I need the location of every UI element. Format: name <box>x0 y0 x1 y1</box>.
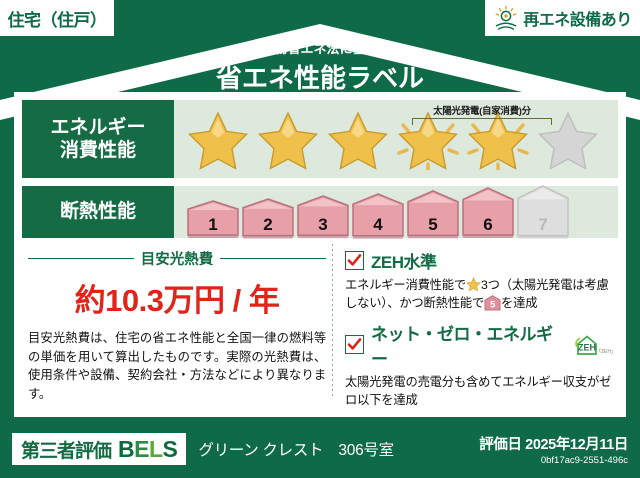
insulation-rating-area: 1234567 <box>174 186 618 238</box>
cost-rule-left <box>28 258 134 260</box>
utility-cost-section: 目安光熱費 約10.3万円 / 年 目安光熱費は、住宅の省エネ性能と全国一律の燃… <box>22 244 332 396</box>
badge-dwelling-type: 住宅（住戸） <box>0 0 114 36</box>
svg-text:「ZEH」: 「ZEH」 <box>596 349 616 355</box>
solar-sun-icon <box>493 5 519 31</box>
insulation-level-scale: 1234567 <box>174 185 570 240</box>
bels-logo: BELS <box>118 436 177 463</box>
net-zero-energy-heading: ネット・ゼロ・エネルギー ZEH 「ZEH」 <box>345 320 616 370</box>
insulation-level-number: 4 <box>351 215 405 235</box>
zeh-standard-heading: ZEH水準 <box>345 248 616 273</box>
insulation-level-6-on: 6 <box>461 187 515 239</box>
title-subtitle: 建築物省エネ法に基づく <box>0 38 640 57</box>
inline-insulation-badge: 5 <box>484 295 501 311</box>
bels-jp-label: 第三者評価 <box>21 436 111 463</box>
zeh-desc-part2: を達成 <box>501 296 537 310</box>
inline-star-icon <box>466 277 481 292</box>
cost-heading-text: 目安光熱費 <box>141 248 214 269</box>
insulation-level-number: 2 <box>241 215 295 235</box>
insulation-level-number: 7 <box>516 215 570 235</box>
star-2-filled <box>254 108 322 170</box>
zeh-section: ZEH水準 エネルギー消費性能で 3つ（太陽光発電は考慮しない）、かつ断熱性能で… <box>333 244 618 396</box>
energy-label-line1: エネルギー <box>50 116 145 139</box>
solar-bracket-line <box>412 118 552 125</box>
cost-rule-right <box>220 258 326 260</box>
star-1-filled <box>184 108 252 170</box>
property-name: グリーン クレスト 306号室 <box>198 438 393 460</box>
evaluation-info: 評価日 2025年12月11日 0bf17ac9-2551-496c <box>479 433 628 466</box>
insulation-performance-label: 断熱性能 <box>22 186 174 238</box>
insulation-level-1-on: 1 <box>186 200 240 239</box>
insulation-level-2-on: 2 <box>241 198 295 240</box>
zeh-standard-title: ZEH水準 <box>371 248 437 273</box>
energy-label-line2: 消費性能 <box>60 139 136 162</box>
net-zero-description: 太陽光発電の売電分も含めてエネルギー収支がゼロ以下を達成 <box>345 373 616 410</box>
evaluation-date: 評価日 2025年12月11日 <box>479 433 628 454</box>
evaluation-id: 0bf17ac9-2551-496c <box>479 455 628 466</box>
insulation-level-3-on: 3 <box>296 195 350 239</box>
energy-performance-label: 住宅（住戸） 再エネ設備あり 建築物省エネ法に基づく 省エネ性能ラベル <box>0 0 640 478</box>
energy-performance-label: エネルギー 消費性能 <box>22 100 174 178</box>
insulation-label-text: 断熱性能 <box>60 200 136 223</box>
solar-bracket-label: 太陽光発電(自家消費)分 <box>412 103 552 117</box>
badge-renewable-equipment: 再エネ設備あり <box>485 0 640 36</box>
insulation-level-4-on: 4 <box>351 193 405 240</box>
insulation-level-5-on: 5 <box>406 190 460 239</box>
badge-dwelling-type-label: 住宅（住戸） <box>8 6 107 31</box>
zeh-logo-icon: ZEH 「ZEH」 <box>572 333 616 357</box>
bels-badge: 第三者評価 BELS <box>12 433 186 465</box>
solar-bracket-annotation: 太陽光発電(自家消費)分 <box>412 103 552 125</box>
bels-letter-b: B <box>118 436 134 462</box>
zeh-desc-part1: エネルギー消費性能で <box>345 278 466 292</box>
footer: 第三者評価 BELS グリーン クレスト 306号室 評価日 2025年12月1… <box>0 420 640 478</box>
bels-letter-s: S <box>163 436 178 462</box>
zeh-standard-checkbox <box>345 251 364 270</box>
label-panel: エネルギー 消費性能 太陽光発電(自家消費)分 断熱性能 1234567 <box>14 92 626 417</box>
energy-performance-row: エネルギー 消費性能 太陽光発電(自家消費)分 <box>22 100 618 178</box>
insulation-level-number: 3 <box>296 215 350 235</box>
energy-rating-area: 太陽光発電(自家消費)分 <box>174 100 618 178</box>
zeh-standard-block: ZEH水準 エネルギー消費性能で 3つ（太陽光発電は考慮しない）、かつ断熱性能で… <box>345 248 616 313</box>
net-zero-energy-block: ネット・ゼロ・エネルギー ZEH 「ZEH」 太陽光発電の売電分も含めてエネルギ… <box>345 320 616 410</box>
insulation-level-number: 5 <box>406 215 460 235</box>
utility-cost-heading: 目安光熱費 <box>28 248 326 269</box>
zeh-standard-description: エネルギー消費性能で 3つ（太陽光発電は考慮しない）、かつ断熱性能で 5 を達成 <box>345 276 616 313</box>
badge-renewable-label: 再エネ設備あり <box>523 6 632 30</box>
title-main: 省エネ性能ラベル <box>0 58 640 95</box>
insulation-performance-row: 断熱性能 1234567 <box>22 186 618 238</box>
star-3-filled <box>324 108 392 170</box>
net-zero-checkbox <box>345 335 364 354</box>
lower-content: 目安光熱費 約10.3万円 / 年 目安光熱費は、住宅の省エネ性能と全国一律の燃… <box>22 244 618 396</box>
page-title: 建築物省エネ法に基づく 省エネ性能ラベル <box>0 38 640 95</box>
utility-cost-value: 約10.3万円 / 年 <box>28 275 326 320</box>
insulation-level-7-off: 7 <box>516 185 570 240</box>
utility-cost-note: 目安光熱費は、住宅の省エネ性能と全国一律の燃料等の単価を用いて算出したものです。… <box>28 329 326 404</box>
net-zero-title: ネット・ゼロ・エネルギー <box>371 320 565 370</box>
insulation-level-number: 6 <box>461 215 515 235</box>
svg-text:ZEH: ZEH <box>578 342 596 352</box>
insulation-level-number: 1 <box>186 215 240 235</box>
bels-letter-e: E <box>134 436 149 462</box>
bels-letter-l: L <box>149 436 163 462</box>
